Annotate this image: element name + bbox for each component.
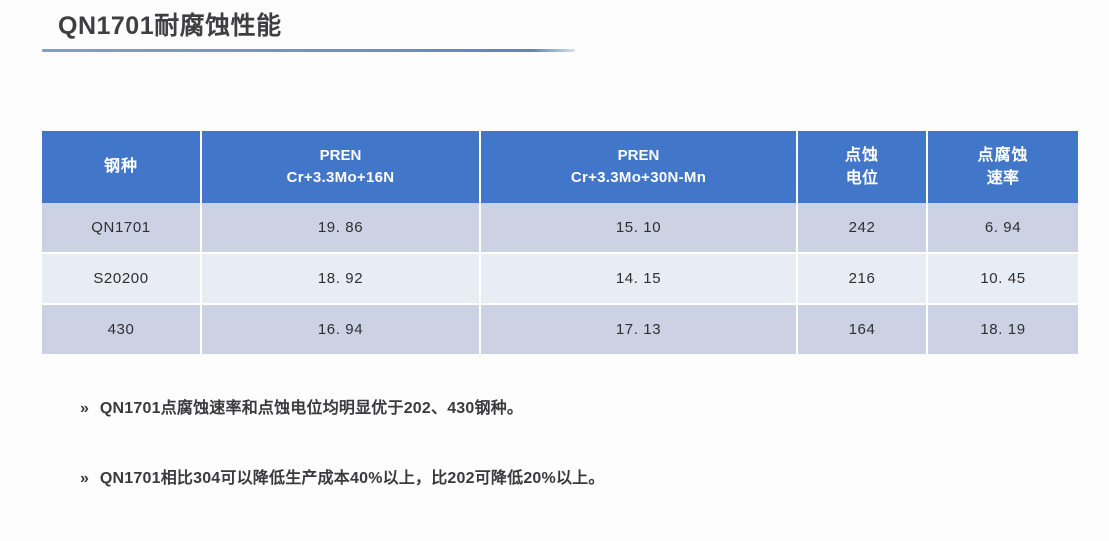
- cell-pren-30n-mn: 17. 13: [481, 305, 798, 354]
- bullet-item: » QN1701相比304可以降低生产成本40%以上，比202可降低20%以上。: [80, 464, 605, 488]
- cell-pitting-rate: 10. 45: [928, 254, 1078, 305]
- table-row: 430 16. 94 17. 13 164 18. 19: [42, 305, 1078, 354]
- table-row: QN1701 19. 86 15. 10 242 6. 94: [42, 203, 1078, 254]
- table-row: S20200 18. 92 14. 15 216 10. 45: [42, 254, 1078, 305]
- bullet-marker-icon: »: [80, 470, 89, 488]
- cell-grade: S20200: [42, 254, 202, 305]
- cell-pitting-potential: 164: [798, 305, 928, 354]
- bullet-marker-icon: »: [80, 400, 89, 418]
- column-header-pren-30n-mn-line1: PREN: [485, 145, 792, 167]
- column-header-pitting-potential-line2: 电位: [802, 167, 922, 190]
- cell-grade: 430: [42, 305, 202, 354]
- cell-pren-16n: 16. 94: [202, 305, 481, 354]
- title-underline-rule: [42, 49, 575, 52]
- column-header-pitting-potential-line1: 点蚀: [802, 144, 922, 167]
- bullet-item: » QN1701点腐蚀速率和点蚀电位均明显优于202、430钢种。: [80, 394, 523, 418]
- column-header-pren-30n-mn-line2: Cr+3.3Mo+30N-Mn: [485, 167, 792, 189]
- column-header-pren-30n-mn: PREN Cr+3.3Mo+30N-Mn: [481, 131, 798, 203]
- column-header-pitting-rate-line2: 速率: [932, 167, 1074, 190]
- cell-pren-16n: 19. 86: [202, 203, 481, 254]
- column-header-pren-16n-line1: PREN: [206, 145, 475, 167]
- cell-pren-30n-mn: 14. 15: [481, 254, 798, 305]
- cell-pitting-potential: 216: [798, 254, 928, 305]
- column-header-pren-16n-line2: Cr+3.3Mo+16N: [206, 167, 475, 189]
- table-header: 钢种 PREN Cr+3.3Mo+16N PREN Cr+3.3Mo+30N-M…: [42, 131, 1078, 203]
- column-header-pitting-rate: 点腐蚀 速率: [928, 131, 1078, 203]
- cell-pren-16n: 18. 92: [202, 254, 481, 305]
- column-header-pitting-potential: 点蚀 电位: [798, 131, 928, 203]
- column-header-grade: 钢种: [42, 131, 202, 203]
- cell-grade: QN1701: [42, 203, 202, 254]
- column-header-grade-line1: 钢种: [46, 155, 196, 178]
- column-header-pitting-rate-line1: 点腐蚀: [932, 144, 1074, 167]
- table-header-row: 钢种 PREN Cr+3.3Mo+16N PREN Cr+3.3Mo+30N-M…: [42, 131, 1078, 203]
- bullet-text: QN1701点腐蚀速率和点蚀电位均明显优于202、430钢种。: [100, 394, 523, 418]
- page-title: QN1701耐腐蚀性能: [58, 6, 282, 42]
- corrosion-performance-table: 钢种 PREN Cr+3.3Mo+16N PREN Cr+3.3Mo+30N-M…: [42, 131, 1078, 354]
- cell-pitting-rate: 6. 94: [928, 203, 1078, 254]
- table-body: QN1701 19. 86 15. 10 242 6. 94 S20200 18…: [42, 203, 1078, 354]
- cell-pitting-rate: 18. 19: [928, 305, 1078, 354]
- column-header-pren-16n: PREN Cr+3.3Mo+16N: [202, 131, 481, 203]
- cell-pren-30n-mn: 15. 10: [481, 203, 798, 254]
- bullet-text: QN1701相比304可以降低生产成本40%以上，比202可降低20%以上。: [100, 464, 605, 488]
- cell-pitting-potential: 242: [798, 203, 928, 254]
